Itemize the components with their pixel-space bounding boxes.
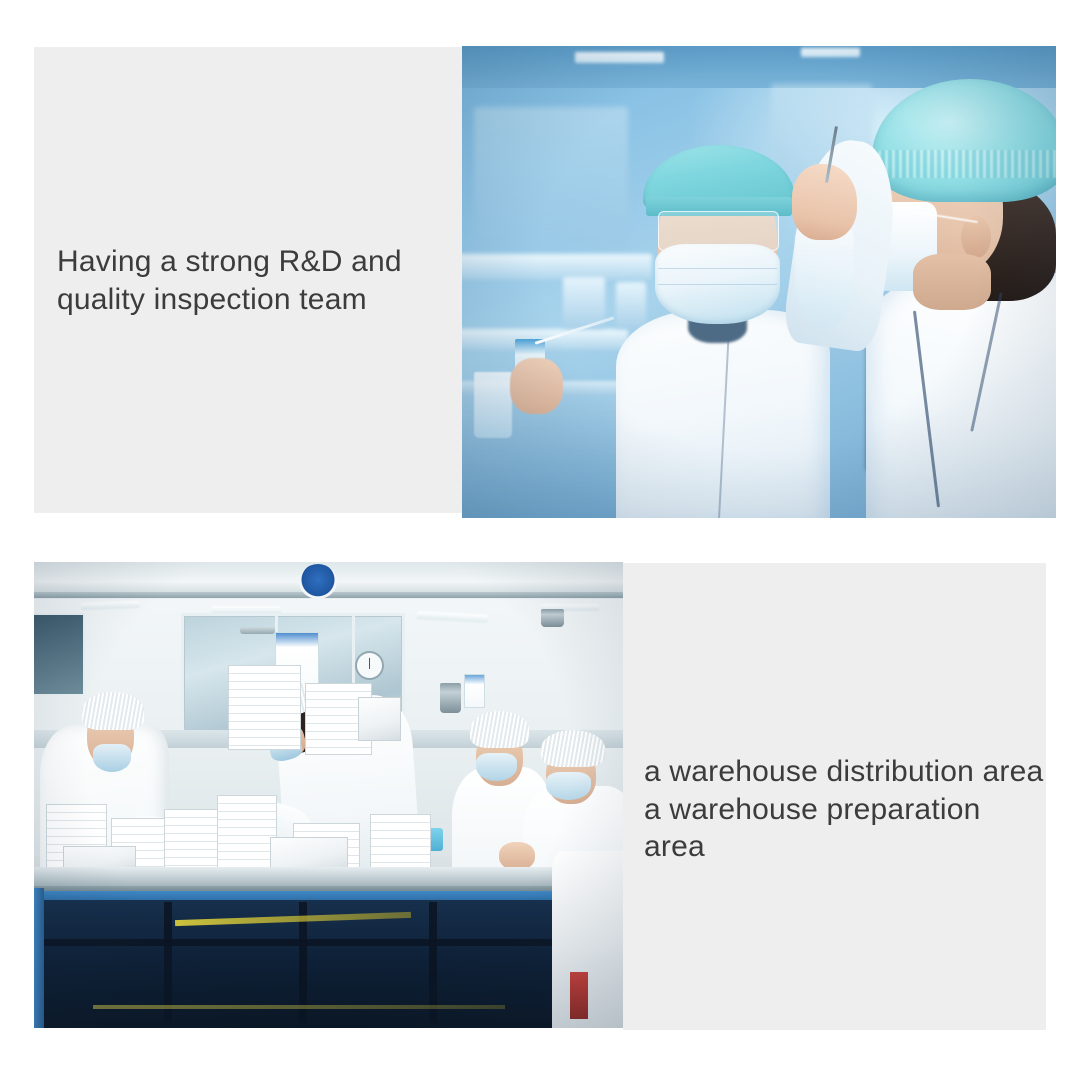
warehouse-photo xyxy=(34,562,623,1028)
top-caption: Having a strong R&D and quality inspecti… xyxy=(57,243,457,318)
photo-vignette xyxy=(462,46,1056,518)
lab-photo xyxy=(462,46,1056,518)
photo-vignette xyxy=(34,562,623,1028)
bottom-caption: a warehouse distribution area a warehous… xyxy=(644,753,1044,866)
